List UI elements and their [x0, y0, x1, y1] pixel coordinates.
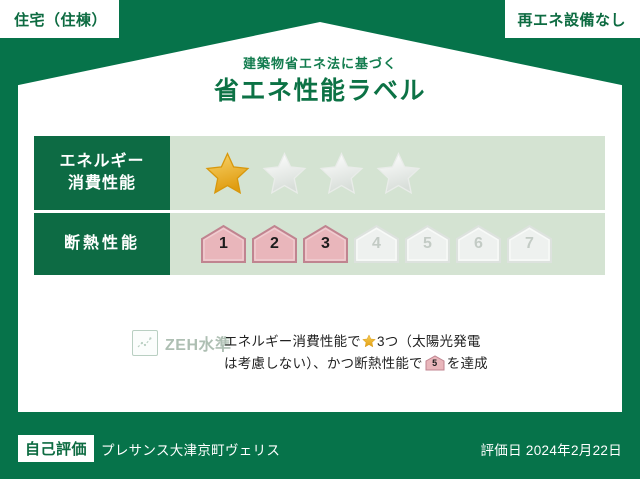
insulation-label: 断熱性能: [34, 213, 170, 275]
insulation-grade-value: 4: [353, 236, 400, 252]
insulation-grade-badge: 7: [506, 223, 553, 265]
insulation-grade-value: 7: [506, 236, 553, 252]
energy-label-line2: 消費性能: [68, 173, 136, 195]
note-part3: は考慮しない）、かつ断熱性能で: [224, 356, 423, 371]
inline-grade-value: 5: [425, 359, 445, 368]
inline-grade-badge: 5: [425, 355, 445, 371]
achievement-note: エネルギー消費性能で3つ（太陽光発電は考慮しない）、かつ断熱性能で5を達成: [224, 330, 605, 375]
star-filled-icon: [204, 151, 251, 196]
insulation-grade-badge: 6: [455, 223, 502, 265]
self-evaluation-chip: 自己評価: [18, 435, 94, 462]
note-part1: エネルギー消費性能で: [224, 334, 361, 349]
page-title: 省エネ性能ラベル: [0, 76, 640, 106]
insulation-grade-value: 6: [455, 236, 502, 252]
zeh-indicator: ZEH水準: [34, 330, 224, 356]
insulation-grade-value: 3: [302, 236, 349, 252]
insulation-row: 断熱性能 1234567: [34, 213, 605, 275]
label-footer: 自己評価 プレサンス大津京町ヴェリス 評価日 2024年2月22日: [0, 417, 640, 479]
note-part4: を達成: [447, 356, 488, 371]
renewable-equipment-chip: 再エネ設備なし: [505, 0, 640, 38]
energy-consumption-label: エネルギー 消費性能: [34, 136, 170, 210]
zeh-note-block: ZEH水準 エネルギー消費性能で3つ（太陽光発電は考慮しない）、かつ断熱性能で5…: [34, 330, 605, 375]
star-rating-panel: [170, 136, 605, 210]
star-empty-icon: [318, 151, 365, 196]
insulation-grade-badge: 1: [200, 223, 247, 265]
insulation-grade-badge: 2: [251, 223, 298, 265]
note-part2: 3つ（太陽光発電: [377, 334, 481, 349]
star-empty-icon: [261, 151, 308, 196]
insulation-grade-badge: 5: [404, 223, 451, 265]
housing-type-chip: 住宅（住棟）: [0, 0, 119, 38]
insulation-grade-badge: 4: [353, 223, 400, 265]
title-subtitle: 建築物省エネ法に基づく: [0, 56, 640, 72]
label-title-block: 建築物省エネ法に基づく 省エネ性能ラベル: [0, 56, 640, 106]
insulation-grade-value: 5: [404, 236, 451, 252]
star-icon: [362, 333, 376, 347]
evaluation-date: 評価日 2024年2月22日: [480, 439, 622, 459]
energy-performance-label: 住宅（住棟） 再エネ設備なし 建築物省エネ法に基づく 省エネ性能ラベル エネルギ…: [0, 0, 640, 479]
energy-consumption-row: エネルギー 消費性能: [34, 136, 605, 210]
rating-rows: エネルギー 消費性能 断熱性能 1234567: [34, 136, 605, 275]
zeh-label: ZEH水準: [165, 331, 232, 355]
zeh-chart-icon: [132, 330, 158, 356]
insulation-grade-panel: 1234567: [170, 213, 605, 275]
insulation-grade-value: 2: [251, 236, 298, 252]
energy-label-line1: エネルギー: [59, 151, 144, 173]
insulation-grade-value: 1: [200, 236, 247, 252]
star-empty-icon: [375, 151, 422, 196]
building-name: プレサンス大津京町ヴェリス: [101, 439, 280, 459]
insulation-grade-badge: 3: [302, 223, 349, 265]
